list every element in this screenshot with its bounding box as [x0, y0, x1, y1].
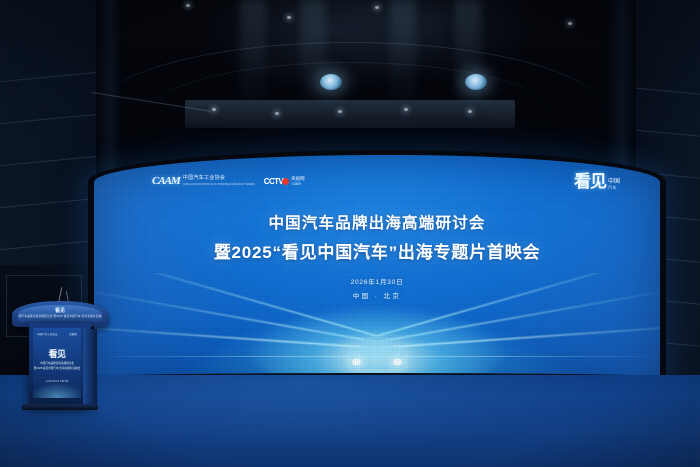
ceiling-light-icon	[568, 22, 572, 25]
ceiling-light-icon	[468, 110, 472, 113]
ceiling-light-icon	[186, 4, 190, 7]
podium-top-title: 中国汽车品牌出海高端研讨会 暨2025“看见中国汽车”出海专题片首映会	[18, 314, 102, 318]
stage-scene: CAAM 中国汽车工业协会 CHINA ASSOCIATION OF AUTOM…	[0, 0, 700, 467]
podium-front-panel: 中国汽车工业协会 央视网 看见 中国汽车品牌出海高端研讨会 暨2025“看见中国…	[33, 328, 81, 398]
spotlight-icon	[465, 74, 487, 90]
ceiling-light-icon	[212, 108, 216, 111]
led-screen: CAAM 中国汽车工业协会 CHINA ASSOCIATION OF AUTOM…	[88, 150, 666, 392]
ceiling-truss	[185, 100, 515, 128]
podium-top-banner: 看见 中国汽车品牌出海高端研讨会 暨2025“看见中国汽车”出海专题片首映会	[18, 305, 102, 322]
podium-logo-row: 中国汽车工业协会 央视网	[37, 332, 77, 336]
podium-logo-caam: 中国汽车工业协会	[37, 332, 58, 336]
spotlight-icon	[320, 74, 342, 90]
wall-slat	[0, 113, 108, 124]
wall-slat	[0, 71, 108, 82]
ceiling-light-icon	[287, 16, 291, 19]
podium-meta: 2026年1月30日 中国·北京	[33, 380, 81, 383]
ceiling-light-icon	[404, 108, 408, 111]
ceiling-light-icon	[275, 112, 279, 115]
podium: 看见 中国汽车品牌出海高端研讨会 暨2025“看见中国汽车”出海专题片首映会 中…	[12, 301, 108, 409]
podium-body: 中国汽车工业协会 央视网 看见 中国汽车品牌出海高端研讨会 暨2025“看见中国…	[29, 323, 91, 407]
led-screen-surface: CAAM 中国汽车工业协会 CHINA ASSOCIATION OF AUTOM…	[94, 155, 660, 383]
podium-logo-cctv: 央视网	[69, 332, 77, 336]
ceiling-light-icon	[338, 110, 342, 113]
ceiling-light-icon	[375, 6, 379, 9]
podium-top-mark-icon: 看见	[55, 307, 65, 314]
podium-program-mark-icon: 看见	[48, 347, 65, 360]
screen-sheen	[94, 155, 660, 383]
podium-base	[22, 404, 98, 410]
podium-title-line2: 暨2025“看见中国汽车”出海专题片首映会	[33, 366, 81, 370]
podium-side	[83, 329, 97, 409]
podium-title-line1: 中国汽车品牌出海高端研讨会	[33, 361, 81, 365]
